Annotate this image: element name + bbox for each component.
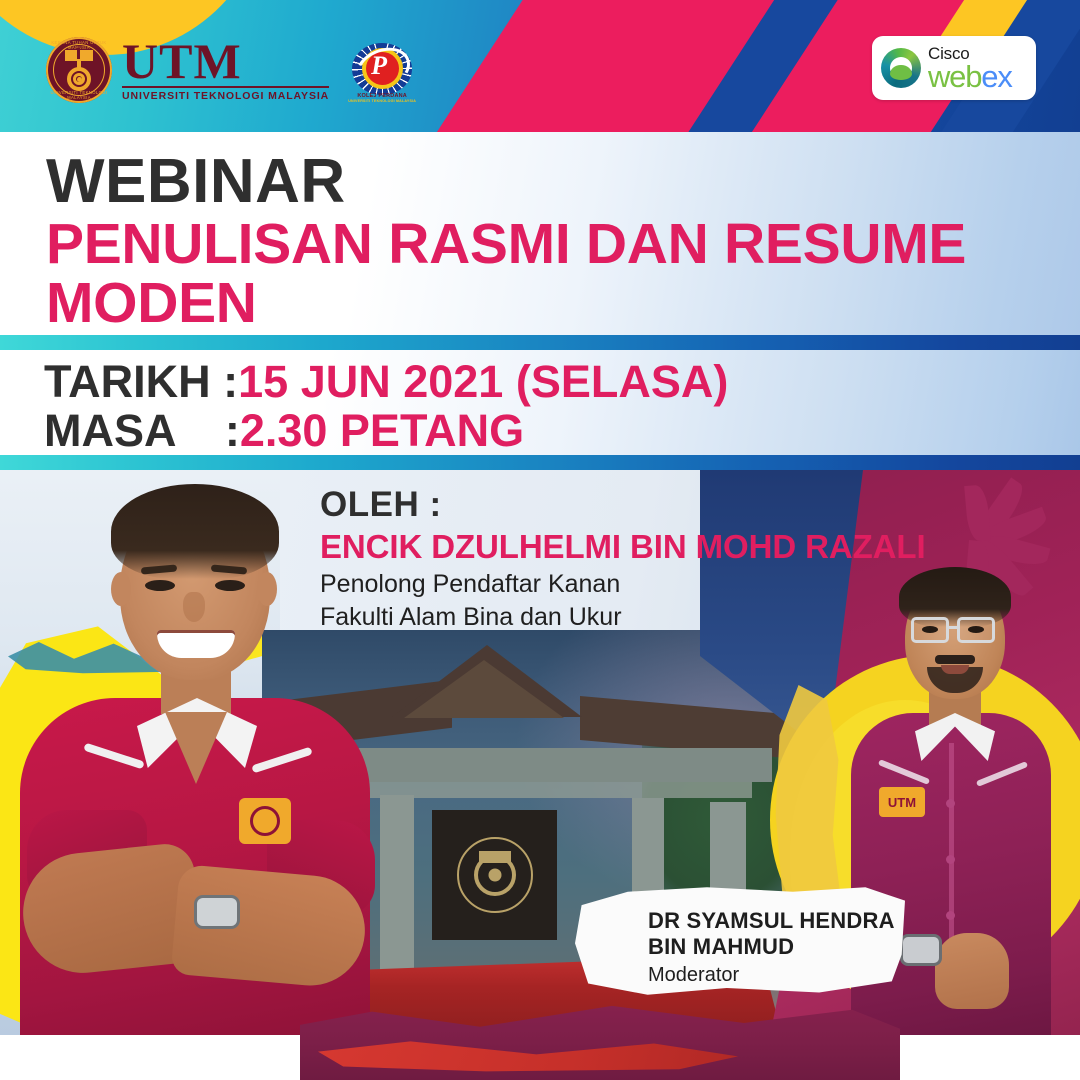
webex-circle-icon (881, 48, 921, 88)
moderator-name-line2: BIN MAHMUD (648, 934, 895, 960)
cisco-webex-logo: Cisco webex (872, 36, 1036, 100)
speaker-badge-icon (239, 798, 291, 844)
webex-text-ex: ex (981, 59, 1011, 94)
date-value: 15 JUN 2021 (SELASA) (238, 358, 728, 407)
utm-seal-bottom-text: UNIVERSITI TEKNOLOGI MALAYSIA (46, 90, 112, 100)
utm-wordmark: UTM UNIVERSITI TEKNOLOGI MALAYSIA (122, 38, 329, 102)
speaker-name: ENCIK DZULHELMI BIN MOHD RAZALI (320, 527, 926, 567)
speaker-info: OLEH : ENCIK DZULHELMI BIN MOHD RAZALI P… (320, 485, 926, 634)
speaker-photo (25, 480, 365, 1035)
moderator-info: DR SYAMSUL HENDRA BIN MAHMUD Moderator (648, 908, 895, 987)
webinar-poster: KERANA TUHAN UNTUK MANUSIA UNIVERSITI TE… (0, 0, 1080, 1080)
title-section: WEBINAR PENULISAN RASMI DAN RESUME MODEN (0, 132, 1080, 335)
page-title: PENULISAN RASMI DAN RESUME MODEN (46, 215, 1056, 332)
webex-text-web: web (928, 59, 981, 94)
utm-subtitle: UNIVERSITI TEKNOLOGI MALAYSIA (122, 86, 329, 102)
event-details-section: TARIKH : 15 JUN 2021 (SELASA) MASA : 2.3… (0, 350, 1080, 455)
kolej-perdana-logo-icon: P KOLEJ PERDANA UNIVERSITI TEKNOLOGI MAL… (345, 33, 419, 107)
speaker-photo-section: UTM OLEH : ENCIK DZULHELMI BIN MOHD RAZA… (0, 470, 1080, 1035)
speaker-role-line1: Penolong Pendaftar Kanan (320, 569, 926, 601)
date-label: TARIKH : (44, 358, 238, 407)
kolej-perdana-caption: KOLEJ PERDANA UNIVERSITI TEKNOLOGI MALAY… (345, 93, 419, 103)
gate-utm-emblem (432, 810, 557, 940)
page-kicker: WEBINAR (46, 150, 1080, 213)
moderator-badge-icon: UTM (879, 787, 925, 817)
speaker-role-line2: Fakulti Alam Bina dan Ukur (320, 602, 926, 634)
oleh-label: OLEH : (320, 485, 926, 524)
time-label: MASA : (44, 407, 240, 456)
moderator-role: Moderator (648, 964, 895, 987)
date-row: TARIKH : 15 JUN 2021 (SELASA) (44, 358, 1080, 407)
gradient-divider-bottom (0, 455, 1080, 470)
logo-row: KERANA TUHAN UNTUK MANUSIA UNIVERSITI TE… (46, 33, 419, 107)
time-value: 2.30 PETANG (240, 407, 524, 456)
kolej-perdana-letter: P (371, 53, 387, 79)
utm-seal-icon: KERANA TUHAN UNTUK MANUSIA UNIVERSITI TE… (46, 37, 112, 103)
utm-acronym: UTM (122, 38, 329, 84)
time-row: MASA : 2.30 PETANG (44, 407, 1080, 456)
kolej-perdana-subcaption: UNIVERSITI TEKNOLOGI MALAYSIA (345, 99, 419, 103)
moderator-name-line1: DR SYAMSUL HENDRA (648, 908, 895, 934)
gradient-divider-top (0, 335, 1080, 350)
webex-product-text: webex (928, 63, 1012, 91)
